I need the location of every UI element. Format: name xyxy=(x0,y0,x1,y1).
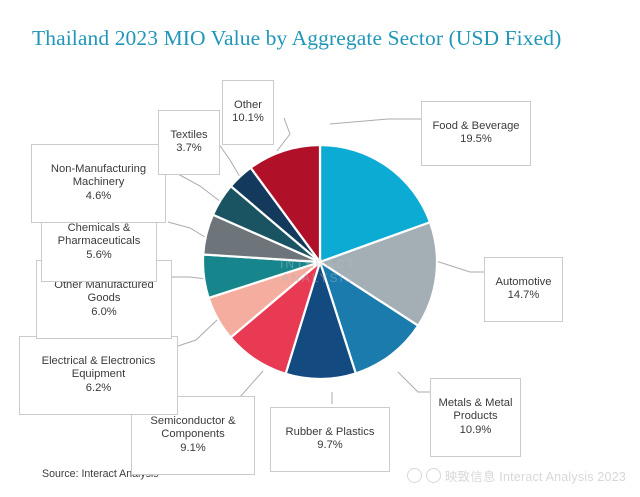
leader-line-electrical-and-electronics-equipment xyxy=(178,319,218,346)
callout-percent-automotive: 14.7% xyxy=(491,289,556,303)
leader-line-chemicals-and-pharmaceuticals xyxy=(168,222,210,240)
callout-label-other: Other xyxy=(234,99,262,111)
leader-line-food-and-beverage xyxy=(330,119,424,124)
callout-label-textiles: Textiles xyxy=(170,129,207,141)
callout-percent-textiles: 3.7% xyxy=(165,142,213,156)
leader-line-automotive xyxy=(436,261,486,272)
callout-electrical-and-electronics-equipment: Electrical & Electronics Equipment 6.2% xyxy=(19,336,178,415)
callout-percent-non-manufacturing-machinery: 4.6% xyxy=(38,190,159,204)
callout-label-food-and-beverage: Food & Beverage xyxy=(432,120,519,132)
callout-metals-and-metal-products: Metals & Metal Products 10.9% xyxy=(430,378,521,457)
callout-label-automotive: Automotive xyxy=(496,276,552,288)
callout-rubber-and-plastics: Rubber & Plastics 9.7% xyxy=(270,407,390,472)
weibo-logo-icon xyxy=(407,468,422,483)
callout-label-rubber-and-plastics: Rubber & Plastics xyxy=(286,426,375,438)
leader-line-non-manufacturing-machinery xyxy=(178,174,225,205)
callout-label-non-manufacturing-machinery: Non-Manufacturing Machinery xyxy=(51,163,146,189)
callout-label-metals-and-metal-products: Metals & Metal Products xyxy=(439,397,513,423)
callout-label-electrical-and-electronics-equipment: Electrical & Electronics Equipment xyxy=(42,355,156,381)
leader-line-textiles xyxy=(216,140,243,182)
callout-percent-chemicals-and-pharmaceuticals: 5.6% xyxy=(48,249,150,263)
callout-food-and-beverage: Food & Beverage 19.5% xyxy=(421,101,531,166)
leader-line-other xyxy=(277,118,290,151)
callout-percent-rubber-and-plastics: 9.7% xyxy=(277,439,383,453)
callout-textiles: Textiles 3.7% xyxy=(158,110,220,175)
callout-percent-electrical-and-electronics-equipment: 6.2% xyxy=(26,382,171,396)
callout-other: Other 10.1% xyxy=(222,80,274,145)
callout-label-chemicals-and-pharmaceuticals: Chemicals & Pharmaceuticals xyxy=(58,222,141,248)
callout-percent-food-and-beverage: 19.5% xyxy=(428,133,524,147)
callout-percent-other: 10.1% xyxy=(229,112,267,126)
leader-line-other-manufactured-goods xyxy=(172,277,206,279)
pie-slices xyxy=(203,145,437,379)
callout-automotive: Automotive 14.7% xyxy=(484,257,563,322)
callout-label-other-manufactured-goods: Other Manufactured Goods xyxy=(54,279,154,305)
watermark: 映致信息 Interact Analysis 2023 xyxy=(407,466,626,485)
callout-percent-other-manufactured-goods: 6.0% xyxy=(43,306,165,320)
callout-non-manufacturing-machinery: Non-Manufacturing Machinery 4.6% xyxy=(31,144,166,223)
watermark-text: 映致信息 Interact Analysis 2023 xyxy=(445,466,626,485)
wechat-logo-icon xyxy=(426,468,441,483)
leader-line-metals-and-metal-products xyxy=(398,372,432,392)
callout-label-semiconductor-and-components: Semiconductor & Components xyxy=(150,415,235,441)
callout-percent-semiconductor-and-components: 9.1% xyxy=(138,442,248,456)
callout-percent-metals-and-metal-products: 10.9% xyxy=(437,424,514,438)
